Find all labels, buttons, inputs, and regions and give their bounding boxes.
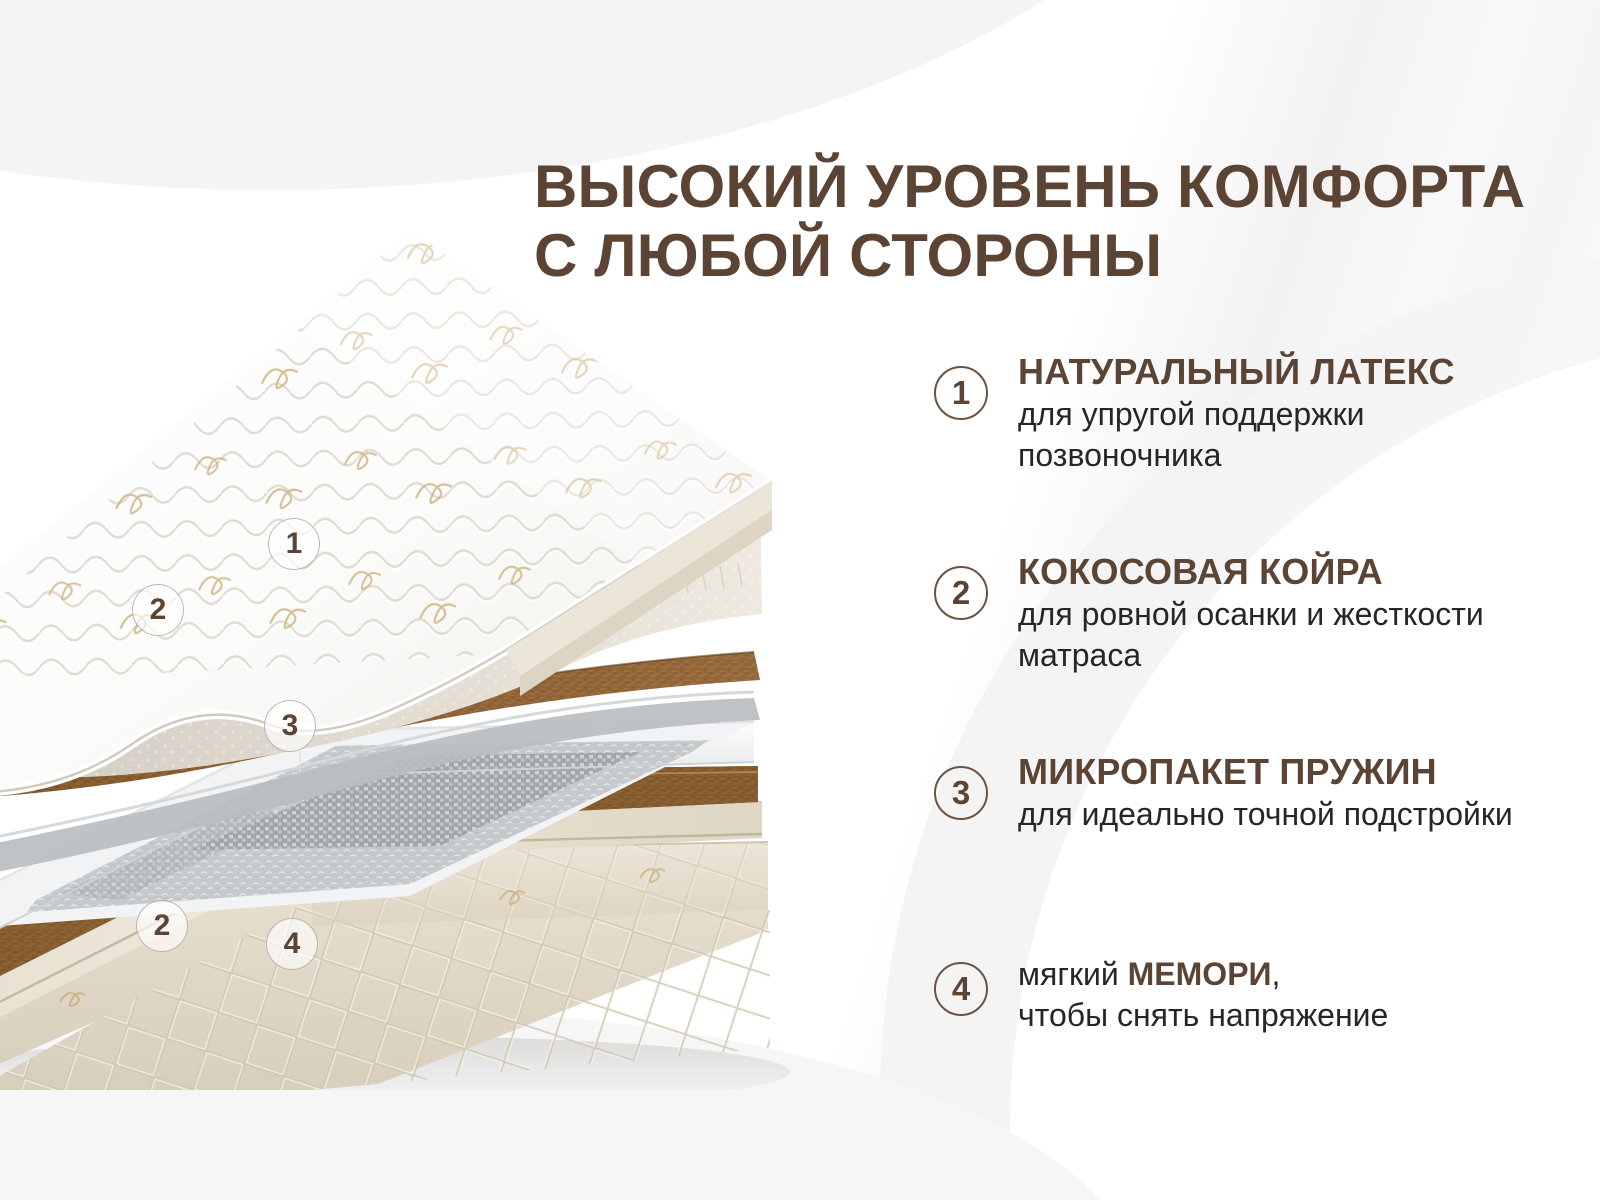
feature-body-3: МИКРОПАКЕТ ПРУЖИН для идеально точной по…: [1018, 752, 1574, 835]
page-title-line-2: С ЛЮБОЙ СТОРОНЫ: [534, 221, 1544, 290]
feature-badge-2: 2: [934, 566, 988, 620]
marker-3-microsprings: 3: [264, 700, 316, 752]
feature-item-3: 3 МИКРОПАКЕТ ПРУЖИН для идеально точной …: [934, 752, 1574, 952]
feature-body-4: мягкий МЕМОРИ,чтобы снять напряжение: [1018, 952, 1574, 1036]
marker-4-memory: 4: [266, 918, 318, 970]
marker-2-coir-top: 2: [132, 584, 184, 636]
feature-description-1: для упругой поддержки позвоночника: [1018, 394, 1574, 476]
feature-badge-3: 3: [934, 766, 988, 820]
feature-description-2: для ровной осанки и жесткости матраса: [1018, 594, 1574, 676]
feature-description-3: для идеально точной подстройки: [1018, 794, 1574, 835]
infographic-canvas: ВЫСОКИЙ УРОВЕНЬ КОМФОРТА С ЛЮБОЙ СТОРОНЫ: [0, 0, 1600, 1200]
feature-description-4: мягкий МЕМОРИ,чтобы снять напряжение: [1018, 954, 1574, 1036]
page-title: ВЫСОКИЙ УРОВЕНЬ КОМФОРТА С ЛЮБОЙ СТОРОНЫ: [534, 152, 1544, 290]
feature-badge-4: 4: [934, 962, 988, 1016]
feature-badge-1: 1: [934, 366, 988, 420]
mattress-cutaway-illustration: [0, 210, 870, 1090]
mattress-svg: [0, 210, 870, 1090]
feature-heading-1: НАТУРАЛЬНЫЙ ЛАТЕКС: [1018, 352, 1574, 392]
feature-body-2: КОКОСОВАЯ КОЙРА для ровной осанки и жест…: [1018, 552, 1574, 676]
feature-heading-3: МИКРОПАКЕТ ПРУЖИН: [1018, 752, 1574, 792]
page-title-line-1: ВЫСОКИЙ УРОВЕНЬ КОМФОРТА: [534, 152, 1544, 221]
marker-1-latex: 1: [268, 518, 320, 570]
feature-4-prefix: мягкий: [1018, 956, 1128, 992]
feature-item-4: 4 мягкий МЕМОРИ,чтобы снять напряжение: [934, 952, 1574, 1036]
feature-item-1: 1 НАТУРАЛЬНЫЙ ЛАТЕКС для упругой поддерж…: [934, 352, 1574, 552]
feature-heading-2: КОКОСОВАЯ КОЙРА: [1018, 552, 1574, 592]
marker-2-coir-bottom: 2: [136, 900, 188, 952]
feature-4-bold: МЕМОРИ: [1128, 956, 1272, 992]
feature-4-line2: чтобы снять напряжение: [1018, 997, 1388, 1033]
feature-body-1: НАТУРАЛЬНЫЙ ЛАТЕКС для упругой поддержки…: [1018, 352, 1574, 476]
feature-4-suffix: ,: [1272, 956, 1281, 992]
feature-list: 1 НАТУРАЛЬНЫЙ ЛАТЕКС для упругой поддерж…: [934, 352, 1574, 1036]
feature-item-2: 2 КОКОСОВАЯ КОЙРА для ровной осанки и же…: [934, 552, 1574, 752]
